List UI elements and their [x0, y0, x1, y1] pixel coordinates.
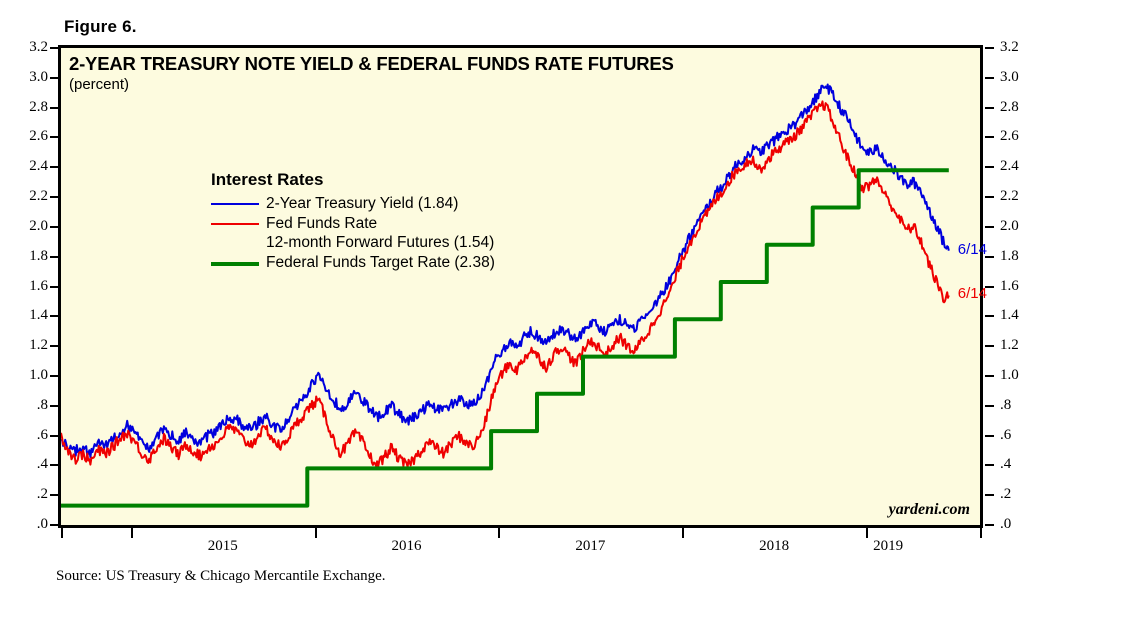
y-axis-tick-label-right: 2.8: [1000, 99, 1040, 116]
y-axis-tick-mark-left: [50, 286, 59, 288]
y-axis-tick-mark-left: [50, 345, 59, 347]
y-axis-tick-label-left: 2.0: [8, 218, 48, 235]
x-axis-tick-label: 2015: [188, 538, 258, 555]
y-axis-tick-label-left: 3.2: [8, 39, 48, 56]
x-axis-tick-mark: [131, 528, 133, 538]
x-axis-tick-mark: [866, 528, 868, 538]
y-axis-tick-mark-right: [985, 77, 994, 79]
y-axis-tick-mark-left: [50, 524, 59, 526]
x-axis-end-cap: [61, 528, 63, 538]
source-note: Source: US Treasury & Chicago Mercantile…: [56, 568, 386, 585]
y-axis-tick-label-left: .0: [8, 516, 48, 533]
y-axis-tick-label-right: 1.2: [1000, 337, 1040, 354]
y-axis-tick-label-left: 1.0: [8, 367, 48, 384]
y-axis-tick-mark-right: [985, 464, 994, 466]
legend-item-label: Federal Funds Target Rate (2.38): [266, 253, 495, 272]
y-axis-tick-label-right: 2.4: [1000, 158, 1040, 175]
y-axis-tick-mark-left: [50, 107, 59, 109]
y-axis-tick-mark-left: [50, 196, 59, 198]
y-axis-tick-mark-right: [985, 286, 994, 288]
y-axis-tick-mark-right: [985, 196, 994, 198]
y-axis-tick-mark-left: [50, 47, 59, 49]
y-axis-tick-mark-right: [985, 494, 994, 496]
y-axis-tick-label-right: 1.4: [1000, 307, 1040, 324]
y-axis-tick-mark-right: [985, 345, 994, 347]
y-axis-tick-mark-left: [50, 315, 59, 317]
y-axis-tick-label-left: 1.2: [8, 337, 48, 354]
y-axis-tick-label-right: .4: [1000, 456, 1040, 473]
legend-item-label: 2-Year Treasury Yield (1.84): [266, 194, 458, 213]
y-axis-tick-mark-right: [985, 315, 994, 317]
y-axis-tick-label-right: 3.2: [1000, 39, 1040, 56]
y-axis-tick-label-right: 2.0: [1000, 218, 1040, 235]
y-axis-tick-label-right: 2.2: [1000, 188, 1040, 205]
y-axis-tick-label-right: 1.6: [1000, 278, 1040, 295]
y-axis-tick-label-right: 1.8: [1000, 248, 1040, 265]
y-axis-tick-label-left: .6: [8, 427, 48, 444]
y-axis-tick-label-right: .2: [1000, 486, 1040, 503]
legend-item-label: Fed Funds Rate12-month Forward Futures (…: [266, 214, 494, 252]
x-axis-tick-mark: [315, 528, 317, 538]
series-end-label: 6/14: [958, 241, 987, 258]
y-axis-tick-label-left: 1.6: [8, 278, 48, 295]
y-axis-tick-mark-right: [985, 226, 994, 228]
y-axis-tick-mark-left: [50, 375, 59, 377]
chart-plot-frame: 2-YEAR TREASURY NOTE YIELD & FEDERAL FUN…: [58, 45, 983, 528]
series-treasury-yield-line: [61, 85, 949, 458]
x-axis-tick-label: 2017: [555, 538, 625, 555]
y-axis-tick-mark-right: [985, 107, 994, 109]
y-axis-tick-mark-right: [985, 375, 994, 377]
legend-color-swatch-icon: [211, 194, 259, 213]
chart-series-canvas: [61, 48, 980, 525]
legend-color-swatch-icon: [211, 253, 259, 272]
y-axis-tick-mark-right: [985, 435, 994, 437]
figure-container: Figure 6. 2-YEAR TREASURY NOTE YIELD & F…: [0, 0, 1138, 621]
x-axis-tick-label: 2019: [853, 538, 923, 555]
y-axis-tick-label-left: 1.8: [8, 248, 48, 265]
legend-item-sublabel: 12-month Forward Futures (1.54): [266, 233, 494, 252]
y-axis-tick-label-left: 2.2: [8, 188, 48, 205]
y-axis-tick-label-left: .4: [8, 456, 48, 473]
y-axis-tick-mark-right: [985, 47, 994, 49]
y-axis-tick-label-left: .8: [8, 397, 48, 414]
figure-label: Figure 6.: [64, 17, 137, 37]
chart-legend: Interest Rates 2-Year Treasury Yield (1.…: [211, 170, 495, 272]
y-axis-tick-mark-left: [50, 136, 59, 138]
x-axis-tick-label: 2016: [372, 538, 442, 555]
x-axis-tick-mark: [498, 528, 500, 538]
chart-plot-area: 2-YEAR TREASURY NOTE YIELD & FEDERAL FUN…: [61, 48, 980, 525]
y-axis-tick-mark-right: [985, 166, 994, 168]
y-axis-tick-label-right: .0: [1000, 516, 1040, 533]
y-axis-tick-label-left: 2.8: [8, 99, 48, 116]
watermark: yardeni.com: [889, 501, 970, 519]
y-axis-tick-label-right: 1.0: [1000, 367, 1040, 384]
y-axis-tick-label-left: 2.4: [8, 158, 48, 175]
y-axis-tick-mark-right: [985, 256, 994, 258]
y-axis-tick-label-left: 3.0: [8, 69, 48, 86]
legend-color-swatch-icon: [211, 214, 259, 233]
y-axis-tick-mark-right: [985, 524, 994, 526]
y-axis-tick-mark-left: [50, 405, 59, 407]
y-axis-tick-mark-left: [50, 166, 59, 168]
y-axis-tick-label-right: 2.6: [1000, 128, 1040, 145]
legend-item: Fed Funds Rate12-month Forward Futures (…: [211, 214, 495, 252]
legend-item: Federal Funds Target Rate (2.38): [211, 253, 495, 272]
y-axis-tick-mark-left: [50, 435, 59, 437]
x-axis-tick-label: 2018: [739, 538, 809, 555]
legend-items: 2-Year Treasury Yield (1.84)Fed Funds Ra…: [211, 194, 495, 272]
series-end-label: 6/14: [958, 285, 987, 302]
y-axis-tick-mark-left: [50, 494, 59, 496]
y-axis-tick-mark-left: [50, 77, 59, 79]
y-axis-tick-label-left: 1.4: [8, 307, 48, 324]
legend-title: Interest Rates: [211, 170, 495, 190]
y-axis-tick-label-right: 3.0: [1000, 69, 1040, 86]
y-axis-tick-mark-right: [985, 136, 994, 138]
y-axis-tick-mark-right: [985, 405, 994, 407]
x-axis-tick-mark: [682, 528, 684, 538]
y-axis-tick-label-left: .2: [8, 486, 48, 503]
y-axis-tick-label-right: .6: [1000, 427, 1040, 444]
y-axis-tick-mark-left: [50, 464, 59, 466]
x-axis-end-cap: [980, 528, 982, 538]
y-axis-tick-mark-left: [50, 226, 59, 228]
legend-item: 2-Year Treasury Yield (1.84): [211, 194, 495, 213]
y-axis-tick-label-left: 2.6: [8, 128, 48, 145]
series-fed-funds-futures-line: [61, 101, 949, 466]
y-axis-tick-label-right: .8: [1000, 397, 1040, 414]
y-axis-tick-mark-left: [50, 256, 59, 258]
